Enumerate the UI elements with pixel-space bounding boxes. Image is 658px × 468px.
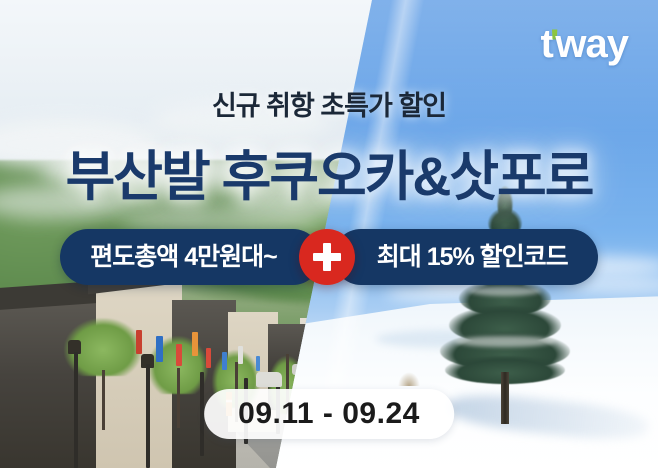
bollard xyxy=(146,364,150,468)
dry-grass xyxy=(398,372,420,386)
street-banner xyxy=(222,352,227,370)
street-banner xyxy=(156,336,163,362)
logo-word-way: way xyxy=(555,24,628,64)
street-banner xyxy=(238,346,243,364)
car-icon xyxy=(256,372,282,387)
promo-date-range: 09.11 - 09.24 xyxy=(204,389,454,439)
street-banner xyxy=(206,348,211,368)
plus-icon xyxy=(299,229,355,285)
offer-pill-group: 편도총액 4만원대~ 최대 15% 할인코드 xyxy=(0,229,658,285)
offer-pill-discount-code[interactable]: 최대 15% 할인코드 xyxy=(333,229,598,285)
spruce-tree-icon xyxy=(430,186,580,424)
street-banner xyxy=(192,332,198,356)
street-banner xyxy=(136,330,142,354)
promo-subtitle: 신규 취항 초특가 할인 xyxy=(0,84,658,123)
street-banner xyxy=(176,344,182,366)
bollard xyxy=(74,352,78,468)
promo-headline: 부산발 후쿠오카&삿포로 xyxy=(0,132,658,211)
street-banner xyxy=(256,356,260,371)
tway-logo[interactable]: t ' way xyxy=(541,24,628,64)
offer-pill-fare[interactable]: 편도총액 4만원대~ xyxy=(60,229,320,285)
promo-banner: t ' way 신규 취항 초특가 할인 부산발 후쿠오카&삿포로 편도총액 4… xyxy=(0,0,658,468)
